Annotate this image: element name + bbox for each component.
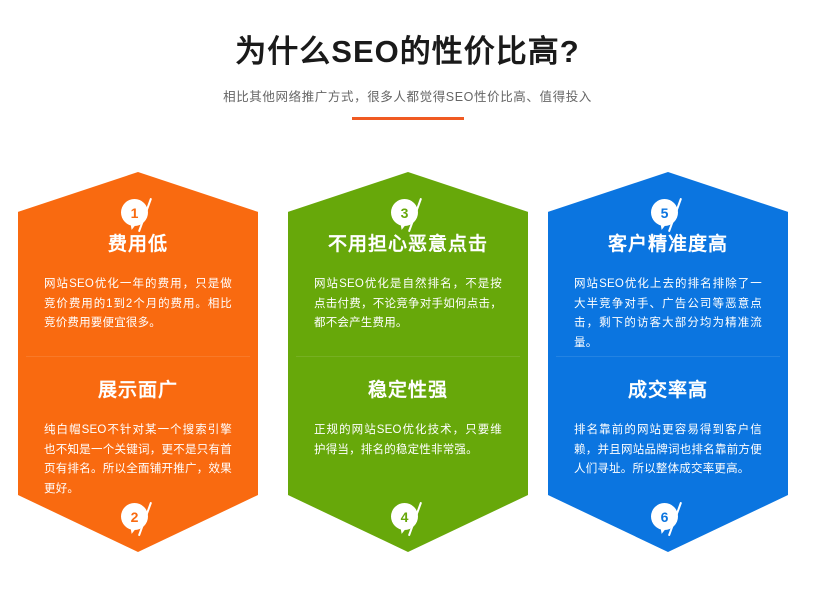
green-column: 3 不用担心恶意点击 网站SEO优化是自然排名，不是按点击付费，不论竞争对手如何… bbox=[288, 172, 528, 552]
badge-1-tail-icon bbox=[127, 218, 139, 231]
panel-body: 网站SEO优化是自然排名，不是按点击付费，不论竞争对手如何点击，都不会产生费用。 bbox=[314, 275, 502, 334]
section-divider bbox=[296, 356, 520, 357]
blue-column-inner: 5 客户精准度高 网站SEO优化上去的排名排除了一大半竞争对手、广告公司等恶意点… bbox=[548, 172, 788, 552]
orange-column-inner: 1 费用低 网站SEO优化一年的费用，只是做竞价费用的1到2个月的费用。相比竞价… bbox=[18, 172, 258, 552]
badge-4-tail-icon bbox=[397, 522, 409, 535]
badge-3: 3 bbox=[391, 199, 425, 233]
badge-5-tail-icon bbox=[657, 218, 669, 231]
panel-heading: 展示面广 bbox=[44, 380, 232, 403]
panel-heading: 成交率高 bbox=[574, 380, 762, 403]
panel-heading: 不用担心恶意点击 bbox=[314, 234, 502, 257]
panel-body: 网站SEO优化上去的排名排除了一大半竞争对手、广告公司等恶意点击，剩下的访客大部… bbox=[574, 275, 762, 354]
badge-1: 1 bbox=[121, 199, 155, 233]
panel-body: 排名靠前的网站更容易得到客户信赖，并且网站品牌词也排名靠前方便人们寻址。所以整体… bbox=[574, 421, 762, 480]
badge-3-tail-icon bbox=[397, 218, 409, 231]
panel-heading: 稳定性强 bbox=[314, 380, 502, 403]
title-divider bbox=[352, 117, 464, 120]
badge-2: 2 bbox=[121, 503, 155, 537]
badge-4: 4 bbox=[391, 503, 425, 537]
panel-body: 纯白帽SEO不针对某一个搜索引擎也不知是一个关键词，更不是只有首页有排名。所以全… bbox=[44, 421, 232, 500]
feature-columns: 1 费用低 网站SEO优化一年的费用，只是做竞价费用的1到2个月的费用。相比竞价… bbox=[0, 172, 815, 557]
page-header: 为什么SEO的性价比高? 相比其他网络推广方式，很多人都觉得SEO性价比高、值得… bbox=[0, 0, 815, 120]
section-divider bbox=[556, 356, 780, 357]
green-column-inner: 3 不用担心恶意点击 网站SEO优化是自然排名，不是按点击付费，不论竞争对手如何… bbox=[288, 172, 528, 552]
panel-heading: 费用低 bbox=[44, 234, 232, 257]
panel-heading: 客户精准度高 bbox=[574, 234, 762, 257]
panel-body: 正规的网站SEO优化技术，只要维护得当，排名的稳定性非常强。 bbox=[314, 421, 502, 461]
section-divider bbox=[26, 356, 250, 357]
panel-cost-low: 费用低 网站SEO优化一年的费用，只是做竞价费用的1到2个月的费用。相比竞价费用… bbox=[18, 234, 258, 334]
badge-2-tail-icon bbox=[127, 522, 139, 535]
page-subtitle: 相比其他网络推广方式，很多人都觉得SEO性价比高、值得投入 bbox=[0, 86, 815, 105]
panel-stability: 稳定性强 正规的网站SEO优化技术，只要维护得当，排名的稳定性非常强。 bbox=[288, 380, 528, 460]
panel-no-malicious-clicks: 不用担心恶意点击 网站SEO优化是自然排名，不是按点击付费，不论竞争对手如何点击… bbox=[288, 234, 528, 334]
badge-6: 6 bbox=[651, 503, 685, 537]
panel-wide-exposure: 展示面广 纯白帽SEO不针对某一个搜索引擎也不知是一个关键词，更不是只有首页有排… bbox=[18, 380, 258, 500]
badge-5: 5 bbox=[651, 199, 685, 233]
badge-6-tail-icon bbox=[657, 522, 669, 535]
panel-body: 网站SEO优化一年的费用，只是做竞价费用的1到2个月的费用。相比竞价费用要便宜很… bbox=[44, 275, 232, 334]
panel-precise-customers: 客户精准度高 网站SEO优化上去的排名排除了一大半竞争对手、广告公司等恶意点击，… bbox=[548, 234, 788, 354]
blue-column: 5 客户精准度高 网站SEO优化上去的排名排除了一大半竞争对手、广告公司等恶意点… bbox=[548, 172, 788, 552]
page-title: 为什么SEO的性价比高? bbox=[0, 33, 815, 70]
panel-conversion-rate: 成交率高 排名靠前的网站更容易得到客户信赖，并且网站品牌词也排名靠前方便人们寻址… bbox=[548, 380, 788, 480]
orange-column: 1 费用低 网站SEO优化一年的费用，只是做竞价费用的1到2个月的费用。相比竞价… bbox=[18, 172, 258, 552]
